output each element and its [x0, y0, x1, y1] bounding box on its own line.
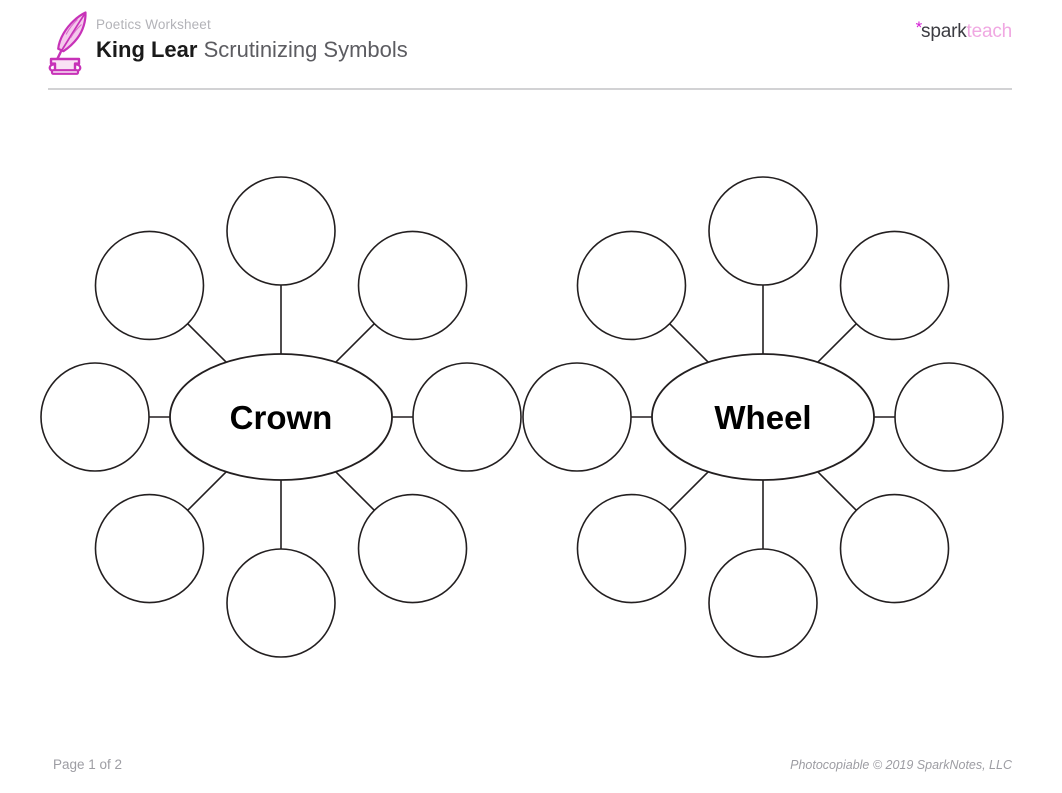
center-label-crown: Crown	[230, 399, 333, 436]
connector-wheel-top-right	[818, 324, 857, 363]
copyright-notice: Photocopiable © 2019 SparkNotes, LLC	[790, 758, 1012, 772]
sparkteach-logo: *sparkteach	[916, 16, 1012, 44]
bubble-map-svg: CrownWheel	[0, 110, 1062, 690]
page-header: Poetics Worksheet King Lear Scrutinizing…	[0, 0, 1062, 90]
brand-spark-text: spark	[921, 21, 966, 42]
satellite-bubble-crown-bottom-right[interactable]	[359, 495, 467, 603]
satellite-bubble-crown-top[interactable]	[227, 177, 335, 285]
satellite-bubble-crown-left[interactable]	[41, 363, 149, 471]
page-title: King Lear Scrutinizing Symbols	[96, 36, 408, 64]
brand-teach-text: teach	[967, 21, 1012, 42]
connector-wheel-bottom-left	[670, 472, 709, 511]
header-divider	[48, 88, 1012, 90]
worksheet-kicker: Poetics Worksheet	[96, 16, 408, 33]
page-title-work: King Lear	[96, 37, 197, 62]
page-number-label: Page 1 of 2	[53, 757, 122, 772]
satellite-bubble-wheel-top[interactable]	[709, 177, 817, 285]
satellite-bubble-wheel-bottom-right[interactable]	[841, 495, 949, 603]
satellite-bubble-crown-top-right[interactable]	[359, 231, 467, 339]
connector-wheel-bottom-right	[818, 472, 857, 511]
satellite-bubble-wheel-top-right[interactable]	[841, 231, 949, 339]
connector-crown-top-right	[336, 324, 375, 363]
bubble-cluster-crown: Crown	[41, 177, 521, 657]
satellite-bubble-wheel-bottom[interactable]	[709, 549, 817, 657]
page-title-topic: Scrutinizing Symbols	[197, 37, 407, 62]
page-footer: Page 1 of 2 Photocopiable © 2019 SparkNo…	[0, 750, 1062, 793]
satellite-bubble-crown-bottom[interactable]	[227, 549, 335, 657]
bubble-map-diagram-area: CrownWheel	[0, 110, 1062, 690]
connector-crown-bottom-left	[188, 472, 227, 511]
satellite-bubble-crown-bottom-left[interactable]	[95, 495, 203, 603]
connector-crown-top-left	[188, 324, 227, 363]
center-label-wheel: Wheel	[714, 399, 811, 436]
satellite-bubble-crown-right[interactable]	[413, 363, 521, 471]
connector-crown-bottom-right	[336, 472, 375, 511]
bubble-cluster-wheel: Wheel	[523, 177, 1003, 657]
satellite-bubble-wheel-bottom-left[interactable]	[577, 495, 685, 603]
quill-in-inkwell-icon	[44, 10, 90, 76]
header-text-block: Poetics Worksheet King Lear Scrutinizing…	[96, 16, 408, 64]
satellite-bubble-wheel-left[interactable]	[523, 363, 631, 471]
satellite-bubble-wheel-right[interactable]	[895, 363, 1003, 471]
connector-wheel-top-left	[670, 324, 709, 363]
satellite-bubble-crown-top-left[interactable]	[95, 231, 203, 339]
satellite-bubble-wheel-top-left[interactable]	[577, 231, 685, 339]
